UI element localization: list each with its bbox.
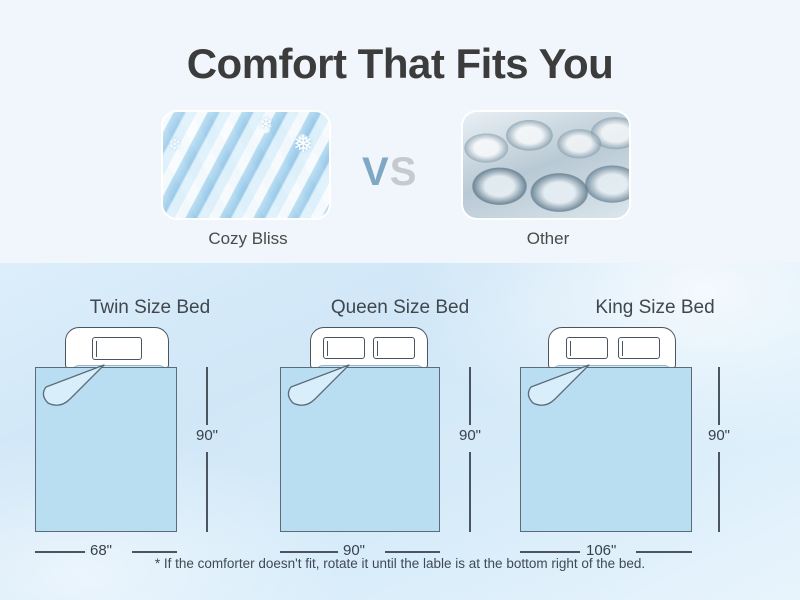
comparison-item-cozy-bliss: ❄ ❅ ❆ Cozy Bliss — [163, 112, 333, 249]
pillow-queen-2 — [373, 337, 415, 359]
dim-line-king-width-right — [636, 551, 692, 553]
snowflake-icon: ❄ — [259, 117, 273, 134]
cozy-bliss-fiber-texture-image: ❄ ❅ ❆ — [163, 112, 329, 218]
versus-letter-v: V — [362, 150, 390, 194]
dim-label-queen-height: 90" — [459, 427, 481, 444]
comforter-fold-corner-queen — [271, 359, 355, 415]
bed-diagram-twin: Twin Size Bed 90" 68" — [20, 263, 280, 600]
bed-stage-twin: 90" 68" — [20, 327, 280, 577]
bed-diagram-king: King Size Bed 90" 106" — [520, 263, 790, 600]
comforter-fold-corner-king — [511, 359, 595, 415]
dim-line-twin-height-bottom — [206, 452, 208, 532]
dim-line-queen-width-left — [280, 551, 338, 553]
bed-title-queen: Queen Size Bed — [275, 297, 525, 319]
dim-line-queen-width-right — [385, 551, 440, 553]
pillow-twin-1 — [92, 337, 142, 360]
bed-title-king: King Size Bed — [520, 297, 790, 319]
dim-line-twin-height-top — [206, 367, 208, 425]
comparison-label-cozy-bliss: Cozy Bliss — [163, 229, 333, 249]
bed-stage-king: 90" 106" — [520, 327, 790, 577]
page-title: Comfort That Fits You — [0, 40, 800, 88]
bed-title-twin: Twin Size Bed — [20, 297, 280, 319]
hero-section: Comfort That Fits You ❄ ❅ ❆ Cozy Bliss V… — [0, 0, 800, 263]
bed-stage-queen: 90" 90" — [275, 327, 525, 577]
dim-line-twin-width-right — [132, 551, 177, 553]
dim-label-twin-height: 90" — [196, 427, 218, 444]
snowflake-icon: ❆ — [169, 138, 181, 152]
comforter-fold-corner-twin — [26, 359, 110, 415]
other-fiber-texture-image — [463, 112, 629, 218]
versus-letter-s: S — [390, 150, 418, 194]
dim-label-king-height: 90" — [708, 427, 730, 444]
pillow-queen-1 — [323, 337, 365, 359]
comparison-item-other: Other — [463, 112, 633, 249]
comparison-row: ❄ ❅ ❆ Cozy Bliss VS Other — [0, 112, 800, 252]
dim-line-king-height-top — [718, 367, 720, 425]
dim-line-queen-height-top — [469, 367, 471, 425]
bed-size-section: Twin Size Bed 90" 68" Queen Size — [0, 263, 800, 600]
dim-line-twin-width-left — [35, 551, 85, 553]
comparison-label-other: Other — [463, 229, 633, 249]
footnote-text: * If the comforter doesn't fit, rotate i… — [0, 556, 800, 571]
dim-line-king-width-left — [520, 551, 580, 553]
snowflake-icon: ❅ — [293, 132, 313, 156]
pillow-king-1 — [566, 337, 608, 359]
dim-line-queen-height-bottom — [469, 452, 471, 532]
bed-diagram-queen: Queen Size Bed 90" 90" — [275, 263, 525, 600]
versus-label: VS — [362, 150, 417, 195]
dim-line-king-height-bottom — [718, 452, 720, 532]
pillow-king-2 — [618, 337, 660, 359]
